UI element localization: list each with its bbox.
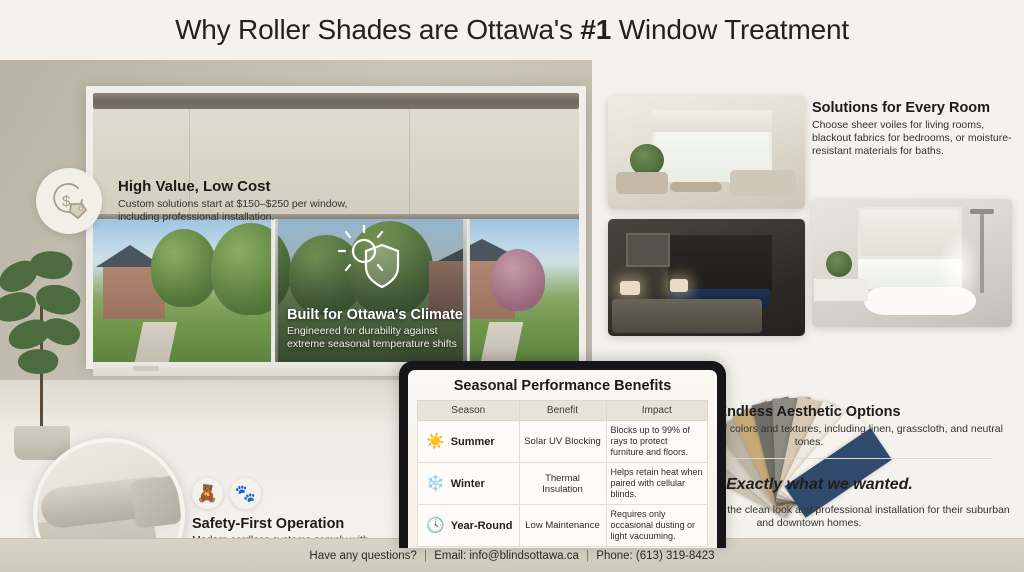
- fabric-seam: [409, 109, 410, 214]
- title-emphasis: #1: [580, 14, 611, 45]
- column-header-impact: Impact: [606, 401, 708, 421]
- table-header-row: Season Benefit Impact: [418, 401, 708, 421]
- leaf-icon: [38, 312, 83, 351]
- value-title: High Value, Low Cost: [118, 178, 368, 195]
- value-callout: High Value, Low Cost Custom solutions st…: [118, 178, 368, 224]
- cell-impact: Blocks up to 99% of rays to protect furn…: [606, 421, 708, 463]
- footer-question: Have any questions?: [309, 550, 416, 562]
- value-body: Custom solutions start at $150–$250 per …: [118, 198, 368, 224]
- window-latch: [133, 366, 159, 371]
- cell-season: ☀️ Summer: [418, 421, 520, 463]
- cell-benefit: Solar UV Blocking: [519, 421, 606, 463]
- safety-body: Modern cordless systems comply with Heal…: [192, 534, 392, 538]
- tablet-screen: Seasonal Performance Benefits Season Ben…: [408, 370, 717, 548]
- title-prefix: Why Roller Shades are Ottawa's: [175, 14, 580, 45]
- solutions-title: Solutions for Every Room: [812, 100, 1017, 116]
- photo-shower-head: [970, 209, 994, 214]
- footer-separator: |: [582, 550, 593, 562]
- title-suffix: Window Treatment: [611, 14, 849, 45]
- living-room-photo: [608, 96, 805, 209]
- table-title: Seasonal Performance Benefits: [417, 378, 708, 394]
- tablet-device: Seasonal Performance Benefits Season Ben…: [399, 361, 726, 548]
- sun-shield-icon: [334, 225, 408, 304]
- cell-benefit: Low Maintenance: [519, 505, 606, 547]
- infographic-root: Why Roller Shades are Ottawa's #1 Window…: [0, 0, 1024, 572]
- column-header-benefit: Benefit: [519, 401, 606, 421]
- page-title-bar: Why Roller Shades are Ottawa's #1 Window…: [0, 0, 1024, 60]
- window-with-roller-shade: Built for Ottawa's Climate Engineered fo…: [86, 86, 586, 369]
- footer-contact: Have any questions? | Email: info@blinds…: [309, 550, 714, 562]
- footer-separator: |: [420, 550, 431, 562]
- season-label: Winter: [451, 478, 485, 490]
- closeup-end-cap: [130, 475, 182, 528]
- leaf-icon: [17, 347, 59, 376]
- cell-benefit: Thermal Insulation: [519, 463, 606, 505]
- cell-season: 🕓 Year-Round: [418, 505, 520, 547]
- climate-body: Engineered for durability against extrem…: [287, 325, 467, 350]
- photo-wall-art: [626, 233, 670, 267]
- solutions-body: Choose sheer voiles for living rooms, bl…: [812, 119, 1017, 159]
- table-row: 🕓 Year-Round Low Maintenance Requires on…: [418, 505, 708, 547]
- svg-text:$: $: [62, 193, 71, 210]
- footer-phone[interactable]: Phone: (613) 319-8423: [596, 550, 714, 562]
- photo-plant: [826, 251, 852, 277]
- testimonial-quote: Exactly what we wanted.: [726, 476, 913, 494]
- column-header-season: Season: [418, 401, 520, 421]
- photo-coffee-table: [670, 182, 722, 192]
- table-row: ❄️ Winter Thermal Insulation Helps retai…: [418, 463, 708, 505]
- safety-title: Safety-First Operation: [192, 516, 392, 532]
- seasonal-benefits-table: Season Benefit Impact ☀️ Summer Sola: [417, 400, 708, 547]
- page-title: Why Roller Shades are Ottawa's #1 Window…: [175, 14, 849, 46]
- cell-impact: Helps retain heat when paired with cellu…: [606, 463, 708, 505]
- cell-impact: Requires only occasional dusting or ligh…: [606, 505, 708, 547]
- photo-shower-pole: [980, 211, 984, 293]
- snowflake-thermometer-icon: ❄️: [426, 476, 445, 491]
- solutions-callout: Solutions for Every Room Choose sheer vo…: [812, 100, 1017, 159]
- season-label: Year-Round: [451, 520, 513, 532]
- safety-callout: 🧸 🐾 Safety-First Operation Modern cordle…: [192, 478, 392, 538]
- shade-headrail: [93, 93, 579, 109]
- tree: [151, 229, 217, 307]
- fiddle-leaf-plant: [0, 245, 96, 460]
- paw-print-icon: 🐾: [230, 478, 261, 509]
- price-tag-icon: $: [36, 168, 102, 234]
- photo-sofa: [730, 170, 796, 196]
- climate-title: Built for Ottawa's Climate: [287, 307, 463, 323]
- teddy-bear-icon: 🧸: [192, 478, 223, 509]
- table-row: ☀️ Summer Solar UV Blocking Blocks up to…: [418, 421, 708, 463]
- photo-sideboard: [616, 172, 668, 194]
- sun-icon: ☀️: [426, 434, 445, 449]
- climate-callout: Built for Ottawa's Climate Engineered fo…: [275, 219, 467, 362]
- season-label: Summer: [451, 436, 495, 448]
- cell-season: ❄️ Winter: [418, 463, 520, 505]
- flowering-tree: [491, 249, 545, 311]
- photo-sheer-shade: [652, 110, 772, 132]
- safety-icon-group: 🧸 🐾: [192, 478, 392, 509]
- clock-icon: 🕓: [426, 518, 445, 533]
- footer-email[interactable]: Email: info@blindsottawa.ca: [434, 550, 579, 562]
